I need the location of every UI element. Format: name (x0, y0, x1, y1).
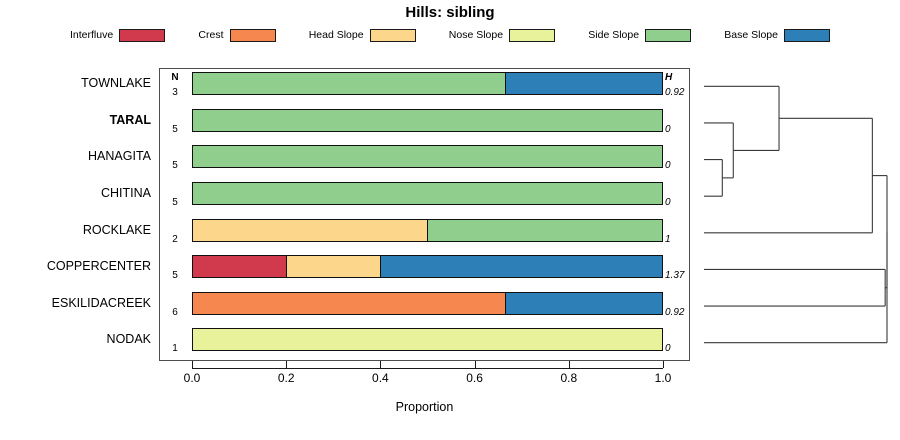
legend-entry[interactable]: Base Slope (724, 29, 830, 42)
chart-row: ROCKLAKE21 (159, 215, 690, 252)
legend-swatch-icon (119, 29, 165, 42)
chart-row: CHITINA50 (159, 178, 690, 215)
bar-segment[interactable] (287, 256, 381, 277)
row-label: ROCKLAKE (1, 223, 151, 237)
legend-swatch-icon (784, 29, 830, 42)
legend-swatch-icon (230, 29, 276, 42)
bar-segment[interactable] (193, 110, 662, 131)
row-label: CHITINA (1, 186, 151, 200)
bar-segment[interactable] (193, 146, 662, 167)
stacked-bar[interactable] (192, 109, 663, 132)
x-axis-tick-label: 0.6 (455, 371, 495, 385)
row-n-value: 5 (162, 160, 188, 171)
x-axis-tick-label: 0.8 (549, 371, 589, 385)
row-label: TOWNLAKE (1, 76, 151, 90)
row-label: HANAGITA (1, 149, 151, 163)
dendrogram-svg (690, 68, 900, 361)
row-label: ESKILIDACREEK (1, 296, 151, 310)
row-n-value: 1 (162, 343, 188, 354)
legend-entry[interactable]: Crest (198, 29, 275, 42)
legend-entry[interactable]: Side Slope (588, 29, 691, 42)
row-n-value: 3 (162, 87, 188, 98)
x-axis-tick (192, 361, 193, 368)
row-n-value: 5 (162, 124, 188, 135)
bar-segment[interactable] (506, 73, 662, 94)
x-axis: 0.00.20.40.60.81.0 (159, 361, 690, 401)
bar-segment[interactable] (193, 220, 428, 241)
legend: InterfluveCrestHead SlopeNose SlopeSide … (70, 26, 830, 44)
x-axis-tick-label: 0.2 (266, 371, 306, 385)
x-axis-tick (569, 361, 570, 368)
bar-segment[interactable] (428, 220, 663, 241)
chart-row: NODAK10 (159, 324, 690, 361)
legend-entry[interactable]: Interfluve (70, 29, 165, 42)
x-axis-tick (286, 361, 287, 368)
legend-label: Base Slope (724, 29, 778, 41)
chart-row: ESKILIDACREEK60.92 (159, 288, 690, 325)
stacked-bar-rows: TOWNLAKE30.92TARAL50HANAGITA50CHITINA50R… (159, 68, 690, 361)
x-axis-tick (380, 361, 381, 368)
x-axis-tick (475, 361, 476, 368)
x-axis-tick (663, 361, 664, 368)
stacked-bar[interactable] (192, 219, 663, 242)
chart-root: Hills: sibling InterfluveCrestHead Slope… (0, 0, 900, 440)
page-title: Hills: sibling (0, 4, 900, 21)
stacked-bar[interactable] (192, 292, 663, 315)
bar-segment[interactable] (193, 329, 662, 350)
stacked-bar[interactable] (192, 182, 663, 205)
chart-row: TOWNLAKE30.92 (159, 68, 690, 105)
row-label: COPPERCENTER (1, 259, 151, 273)
stacked-bar[interactable] (192, 328, 663, 351)
x-axis-tick-label: 0.4 (360, 371, 400, 385)
legend-label: Nose Slope (449, 29, 503, 41)
bar-segment[interactable] (506, 293, 662, 314)
row-n-value: 5 (162, 270, 188, 281)
legend-swatch-icon (370, 29, 416, 42)
x-axis-title: Proportion (159, 400, 690, 414)
bar-segment[interactable] (193, 293, 506, 314)
legend-swatch-icon (509, 29, 555, 42)
x-axis-tick-label: 1.0 (643, 371, 683, 385)
legend-label: Head Slope (309, 29, 364, 41)
chart-row: COPPERCENTER51.37 (159, 251, 690, 288)
legend-swatch-icon (645, 29, 691, 42)
legend-entry[interactable]: Head Slope (309, 29, 416, 42)
legend-label: Interfluve (70, 29, 113, 41)
row-n-value: 5 (162, 197, 188, 208)
bar-segment[interactable] (381, 256, 662, 277)
x-axis-tick-label: 0.0 (172, 371, 212, 385)
row-n-value: 6 (162, 307, 188, 318)
chart-row: HANAGITA50 (159, 141, 690, 178)
stacked-bar[interactable] (192, 72, 663, 95)
stacked-bar[interactable] (192, 255, 663, 278)
row-n-value: 2 (162, 234, 188, 245)
legend-label: Crest (198, 29, 223, 41)
x-axis-line (192, 368, 663, 369)
bar-segment[interactable] (193, 256, 287, 277)
chart-row: TARAL50 (159, 105, 690, 142)
legend-entry[interactable]: Nose Slope (449, 29, 555, 42)
bar-segment[interactable] (193, 73, 506, 94)
bar-segment[interactable] (193, 183, 662, 204)
stacked-bar[interactable] (192, 145, 663, 168)
row-label: NODAK (1, 332, 151, 346)
row-label: TARAL (1, 113, 151, 127)
legend-label: Side Slope (588, 29, 639, 41)
dendrogram (690, 68, 900, 361)
